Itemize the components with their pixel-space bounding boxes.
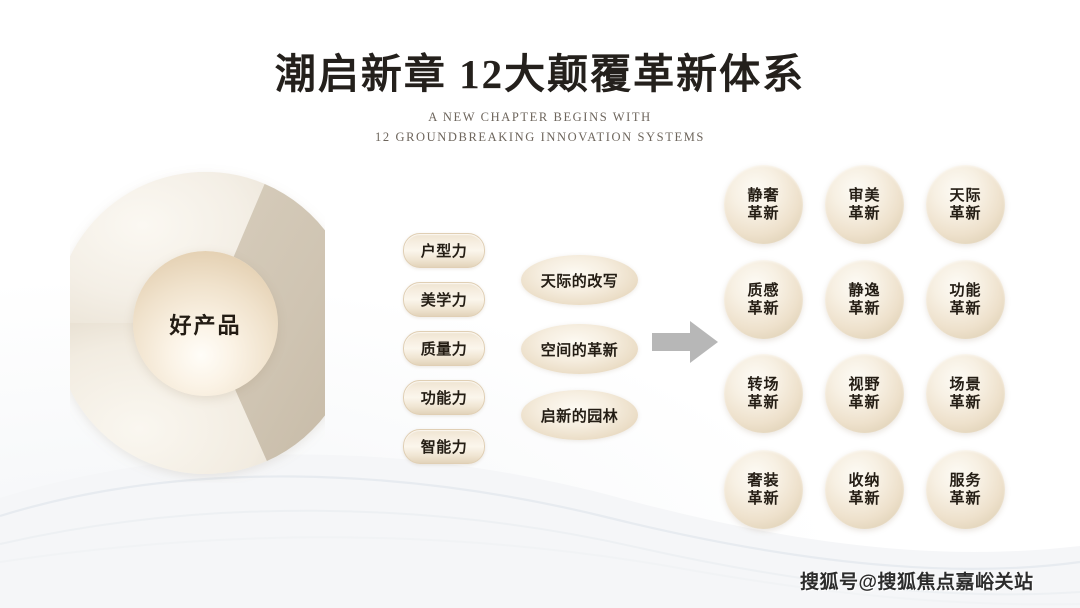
subtitle-line-1: A NEW CHAPTER BEGINS WITH <box>0 107 1080 127</box>
theme-ellipse-label: 空间的革新 <box>541 339 619 360</box>
innovation-label-line1: 静奢 <box>747 187 779 204</box>
innovation-circle-shezhuang[interactable]: 奢装 革新 <box>724 450 803 529</box>
innovation-label-line1: 天际 <box>949 187 981 204</box>
capability-pill-huxingli[interactable]: 户型力 <box>403 233 485 268</box>
theme-ellipse-yuanlin[interactable]: 启新的园林 <box>521 390 638 440</box>
innovation-label-line1: 收纳 <box>848 472 880 489</box>
innovation-circle-gongneng[interactable]: 功能 革新 <box>926 260 1005 339</box>
innovation-label-line2: 革新 <box>848 490 880 507</box>
innovation-circle-zhuanchang[interactable]: 转场 革新 <box>724 354 803 433</box>
innovation-label-line1: 场景 <box>949 376 981 393</box>
arrow-right-icon <box>652 321 718 363</box>
capability-pill-zhiliangli[interactable]: 质量力 <box>403 331 485 366</box>
innovation-label-line1: 质感 <box>747 282 779 299</box>
page-title: 潮启新章 12大颠覆革新体系 <box>0 52 1080 98</box>
theme-ellipse-column: 天际的改写 空间的革新 启新的园林 <box>521 255 641 445</box>
capability-pill-column: 户型力 美学力 质量力 功能力 智能力 <box>403 233 489 467</box>
donut-chart: 好产品 <box>70 163 325 483</box>
innovation-label-line1: 功能 <box>949 282 981 299</box>
capability-pill-label: 质量力 <box>421 338 468 359</box>
watermark: 搜狐号@搜狐焦点嘉峪关站 <box>800 567 1034 594</box>
innovation-label-line2: 革新 <box>848 394 880 411</box>
innovation-label-line1: 静逸 <box>848 282 880 299</box>
innovation-label-line2: 革新 <box>747 205 779 222</box>
innovation-label-line2: 革新 <box>949 205 981 222</box>
theme-ellipse-tianji[interactable]: 天际的改写 <box>521 255 638 305</box>
slide-canvas: 潮启新章 12大颠覆革新体系 A NEW CHAPTER BEGINS WITH… <box>0 0 1080 608</box>
donut-center-sphere: 好产品 <box>133 251 278 396</box>
capability-pill-meixueli[interactable]: 美学力 <box>403 282 485 317</box>
capability-pill-label: 智能力 <box>421 436 468 457</box>
innovation-circle-shiye[interactable]: 视野 革新 <box>825 354 904 433</box>
innovation-label-line2: 革新 <box>848 300 880 317</box>
subtitle-line-2: 12 GROUNDBREAKING INNOVATION SYSTEMS <box>0 127 1080 147</box>
innovation-circle-grid: 静奢 革新 审美 革新 天际 革新 质感 革新 静逸 革新 功能 革新 转场 革… <box>724 165 1006 529</box>
innovation-label-line2: 革新 <box>848 205 880 222</box>
innovation-circle-shenmei[interactable]: 审美 革新 <box>825 165 904 244</box>
innovation-label-line2: 革新 <box>949 394 981 411</box>
donut-center-label: 好产品 <box>169 308 241 340</box>
innovation-label-line1: 奢装 <box>747 472 779 489</box>
innovation-label-line2: 革新 <box>747 490 779 507</box>
innovation-circle-jingyi[interactable]: 静逸 革新 <box>825 260 904 339</box>
innovation-circle-zhigan[interactable]: 质感 革新 <box>724 260 803 339</box>
innovation-circle-jingshe[interactable]: 静奢 革新 <box>724 165 803 244</box>
innovation-label-line2: 革新 <box>949 300 981 317</box>
innovation-label-line1: 转场 <box>747 376 779 393</box>
innovation-circle-shouna[interactable]: 收纳 革新 <box>825 450 904 529</box>
capability-pill-label: 美学力 <box>421 289 468 310</box>
innovation-circle-tianji[interactable]: 天际 革新 <box>926 165 1005 244</box>
innovation-label-line1: 审美 <box>848 187 880 204</box>
theme-ellipse-kongjian[interactable]: 空间的革新 <box>521 324 638 374</box>
capability-pill-gongnengli[interactable]: 功能力 <box>403 380 485 415</box>
innovation-label-line2: 革新 <box>949 490 981 507</box>
innovation-label-line2: 革新 <box>747 394 779 411</box>
title-block: 潮启新章 12大颠覆革新体系 A NEW CHAPTER BEGINS WITH… <box>0 52 1080 147</box>
capability-pill-label: 户型力 <box>421 240 468 261</box>
subtitle: A NEW CHAPTER BEGINS WITH 12 GROUNDBREAK… <box>0 107 1080 148</box>
capability-pill-zhinengli[interactable]: 智能力 <box>403 429 485 464</box>
innovation-label-line1: 视野 <box>848 376 880 393</box>
capability-pill-label: 功能力 <box>421 387 468 408</box>
innovation-circle-changjing[interactable]: 场景 革新 <box>926 354 1005 433</box>
theme-ellipse-label: 天际的改写 <box>541 270 619 291</box>
innovation-circle-fuwu[interactable]: 服务 革新 <box>926 450 1005 529</box>
theme-ellipse-label: 启新的园林 <box>541 405 619 426</box>
innovation-label-line1: 服务 <box>949 472 981 489</box>
innovation-label-line2: 革新 <box>747 300 779 317</box>
